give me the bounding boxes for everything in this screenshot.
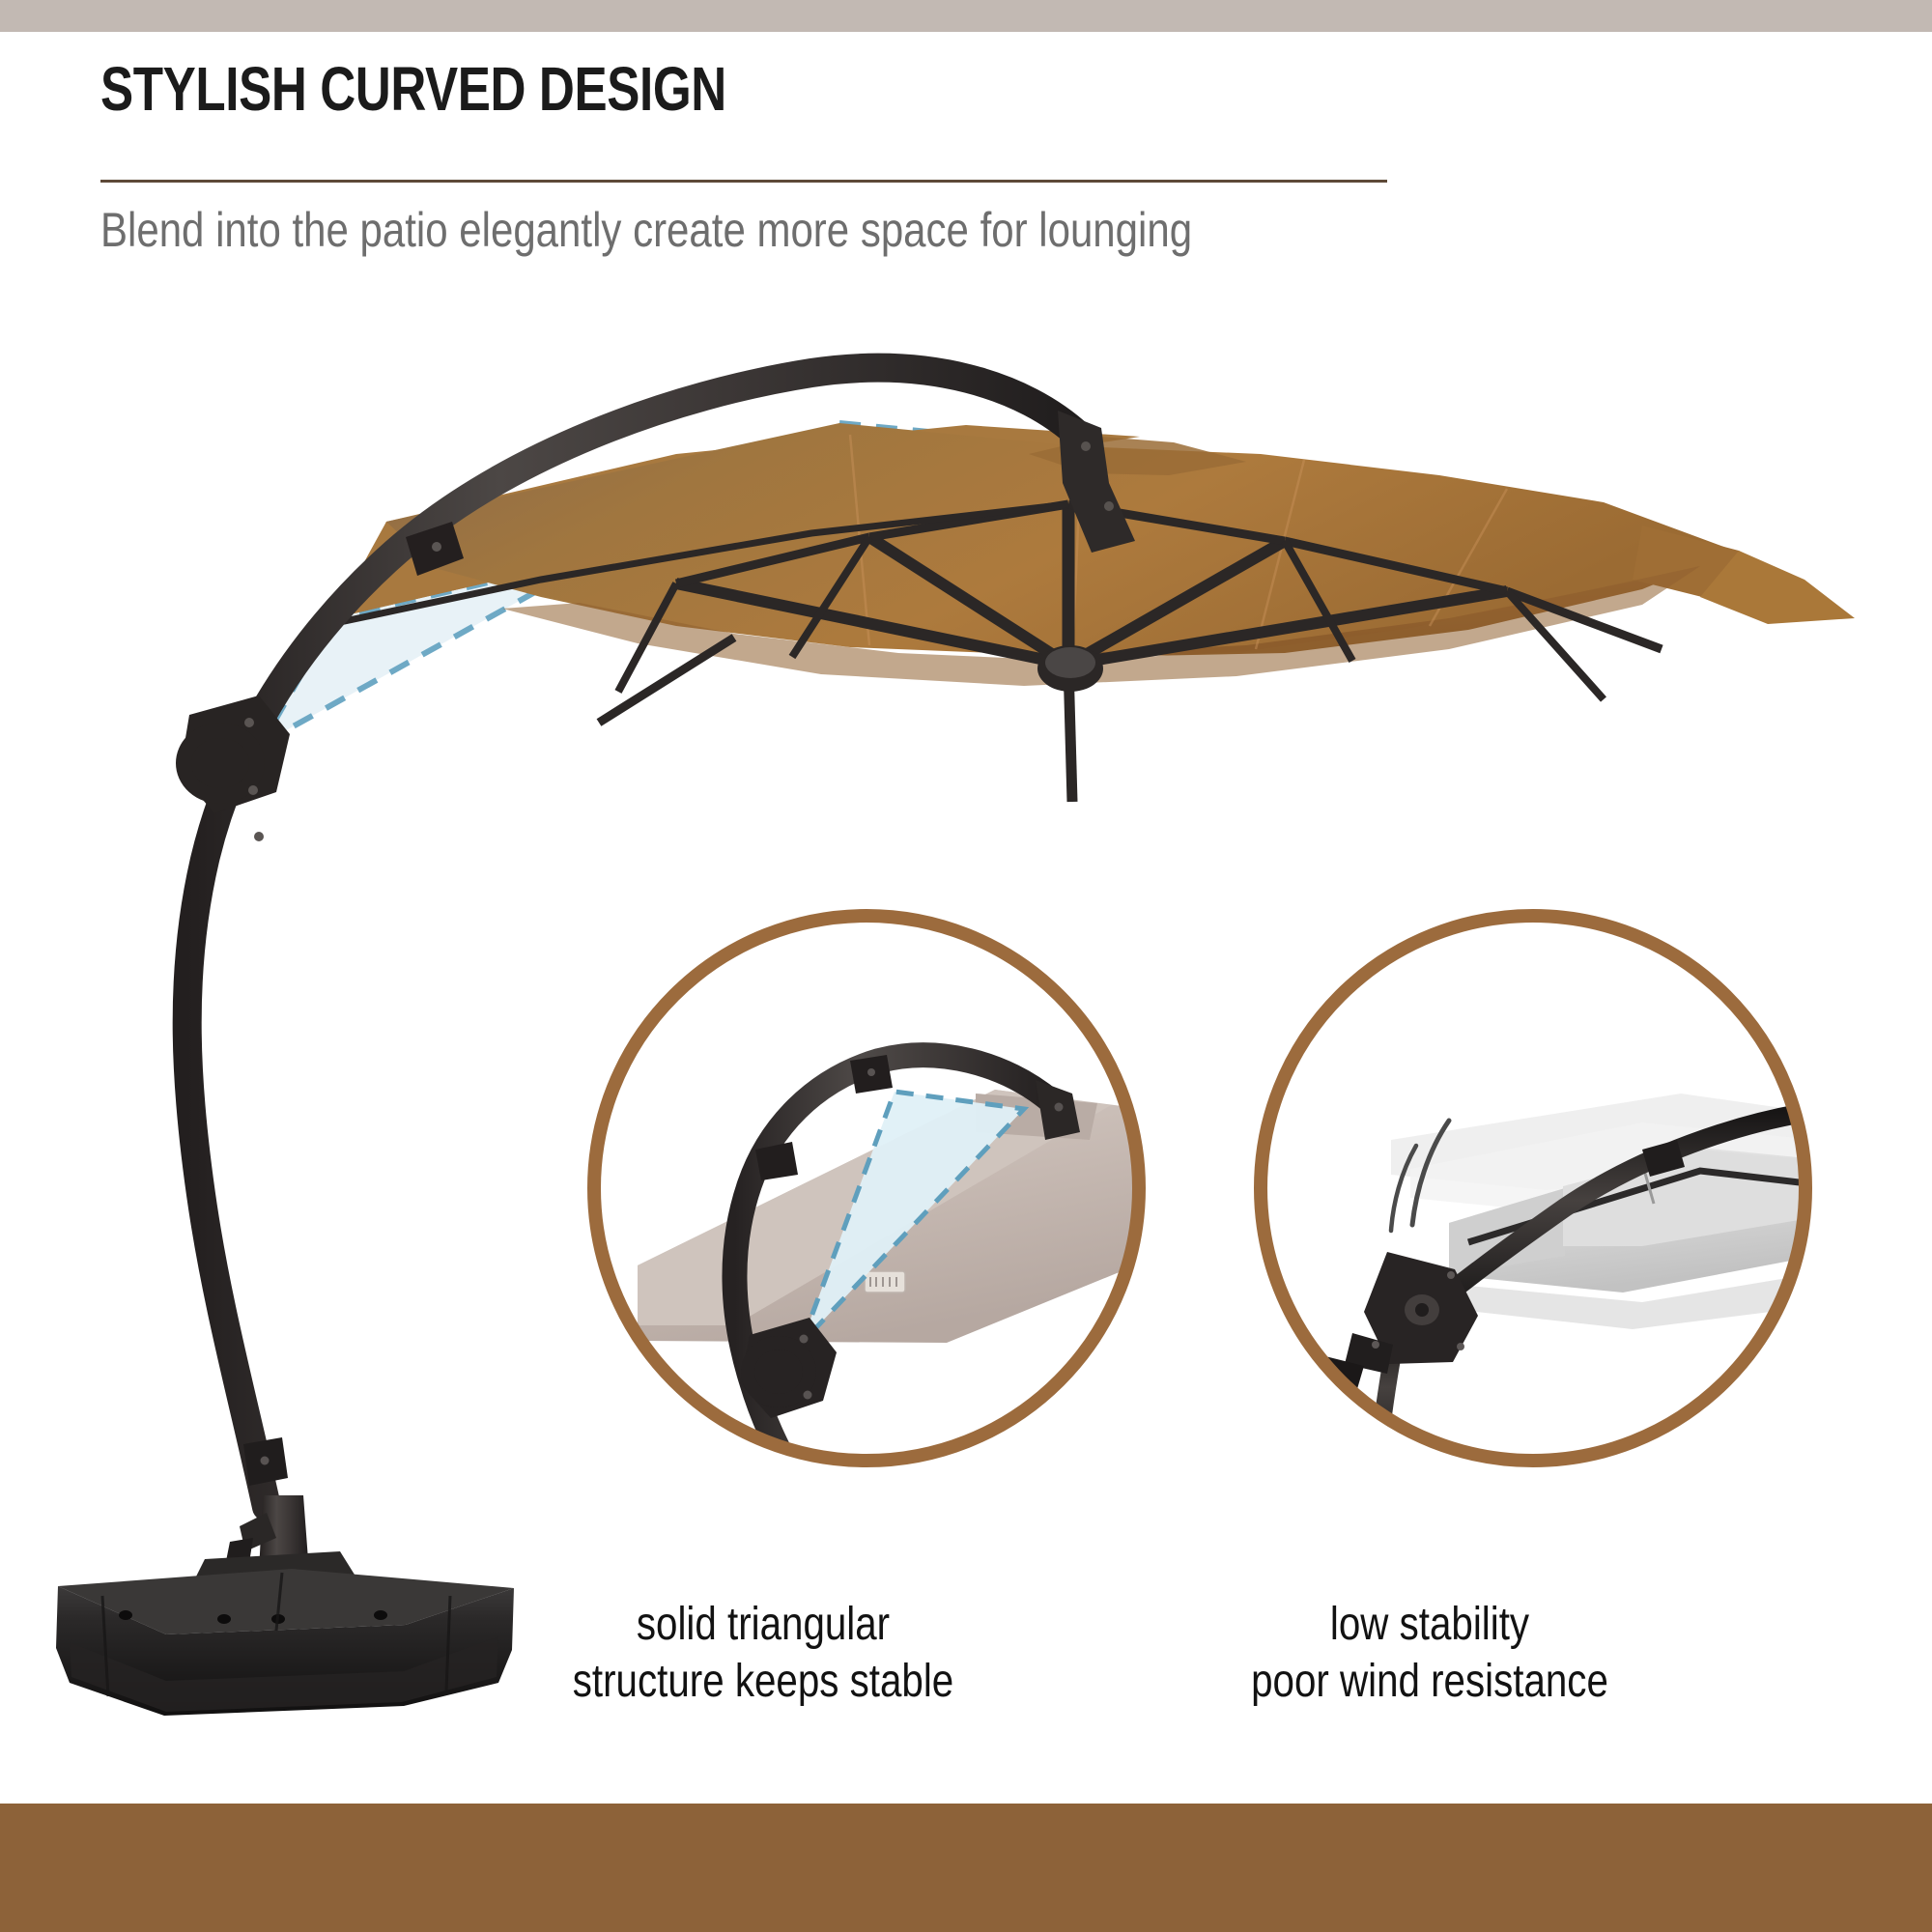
caption-right: low stability poor wind resistance: [1065, 1597, 1795, 1710]
caption-left-line1: solid triangular: [512, 1597, 1015, 1654]
caption-left-line2: structure keeps stable: [512, 1654, 1015, 1711]
caption-right-line1: low stability: [1065, 1597, 1795, 1654]
inset-right-content: [1246, 898, 1826, 1478]
caption-right-line2: poor wind resistance: [1065, 1654, 1795, 1711]
infographic-page: STYLISH CURVED DESIGN Blend into the pat…: [0, 0, 1932, 1932]
caption-left: solid triangular structure keeps stable: [512, 1597, 1015, 1710]
bottom-accent-band: [0, 1804, 1932, 1932]
